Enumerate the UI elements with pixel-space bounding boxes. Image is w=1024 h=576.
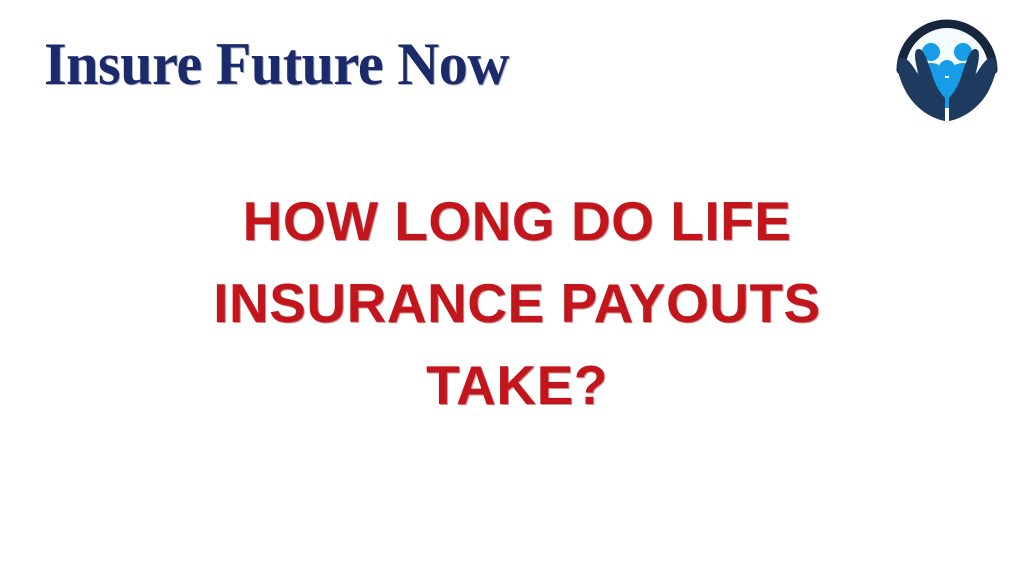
headline: HOW LONG DO LIFE INSURANCE PAYOUTS TAKE? xyxy=(112,180,922,426)
headline-line-1: HOW LONG DO LIFE xyxy=(112,180,922,262)
hands-holding-family-logo xyxy=(889,8,1005,124)
brand-logo xyxy=(889,8,1005,124)
brand-name: Insure Future Now xyxy=(44,32,509,96)
headline-line-2: INSURANCE PAYOUTS xyxy=(112,262,922,344)
headline-line-3: TAKE? xyxy=(112,344,922,426)
brand-header: Insure Future Now xyxy=(0,0,1024,130)
promo-banner: Insure Future Now xyxy=(0,0,1024,576)
